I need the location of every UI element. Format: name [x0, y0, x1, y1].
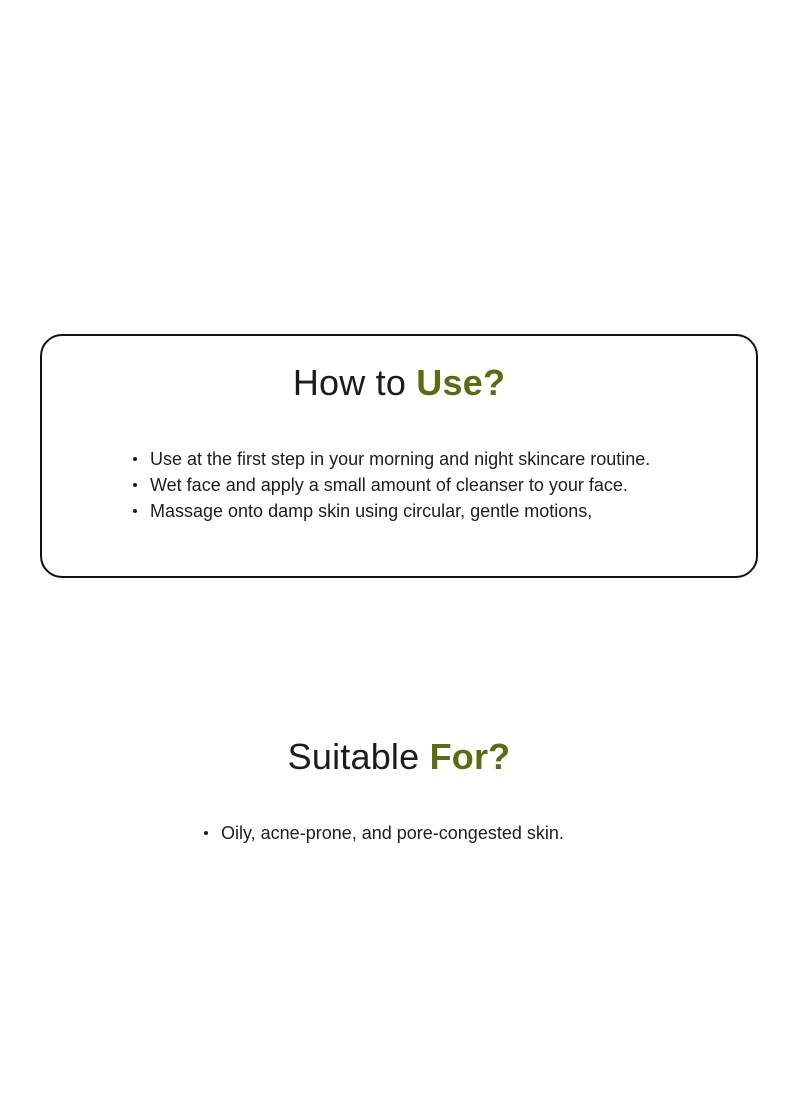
suitable-for-list: Oily, acne-prone, and pore-congested ski… [204, 820, 624, 846]
list-item-text: Oily, acne-prone, and pore-congested ski… [221, 823, 564, 843]
list-item-text: Wet face and apply a small amount of cle… [150, 475, 628, 495]
product-info-page: How to Use? Use at the first step in you… [0, 0, 798, 1100]
list-item: Wet face and apply a small amount of cle… [133, 472, 733, 498]
suitable-for-heading-accent: For? [430, 736, 511, 777]
suitable-for-heading-plain: Suitable [288, 736, 430, 777]
bullet-dot-icon [133, 483, 137, 487]
how-to-use-list: Use at the first step in your morning an… [133, 446, 733, 524]
bullet-dot-icon [204, 831, 208, 835]
list-item-text: Massage onto damp skin using circular, g… [150, 501, 592, 521]
list-item: Oily, acne-prone, and pore-congested ski… [204, 820, 624, 846]
how-to-use-card: How to Use? Use at the first step in you… [40, 334, 758, 578]
how-to-use-heading: How to Use? [42, 364, 756, 402]
suitable-for-heading: Suitable For? [0, 738, 798, 776]
bullet-dot-icon [133, 457, 137, 461]
how-to-use-heading-accent: Use? [416, 362, 505, 403]
list-item: Massage onto damp skin using circular, g… [133, 498, 733, 524]
bullet-dot-icon [133, 509, 137, 513]
how-to-use-heading-plain: How to [293, 362, 416, 403]
list-item: Use at the first step in your morning an… [133, 446, 733, 472]
list-item-text: Use at the first step in your morning an… [150, 449, 650, 469]
